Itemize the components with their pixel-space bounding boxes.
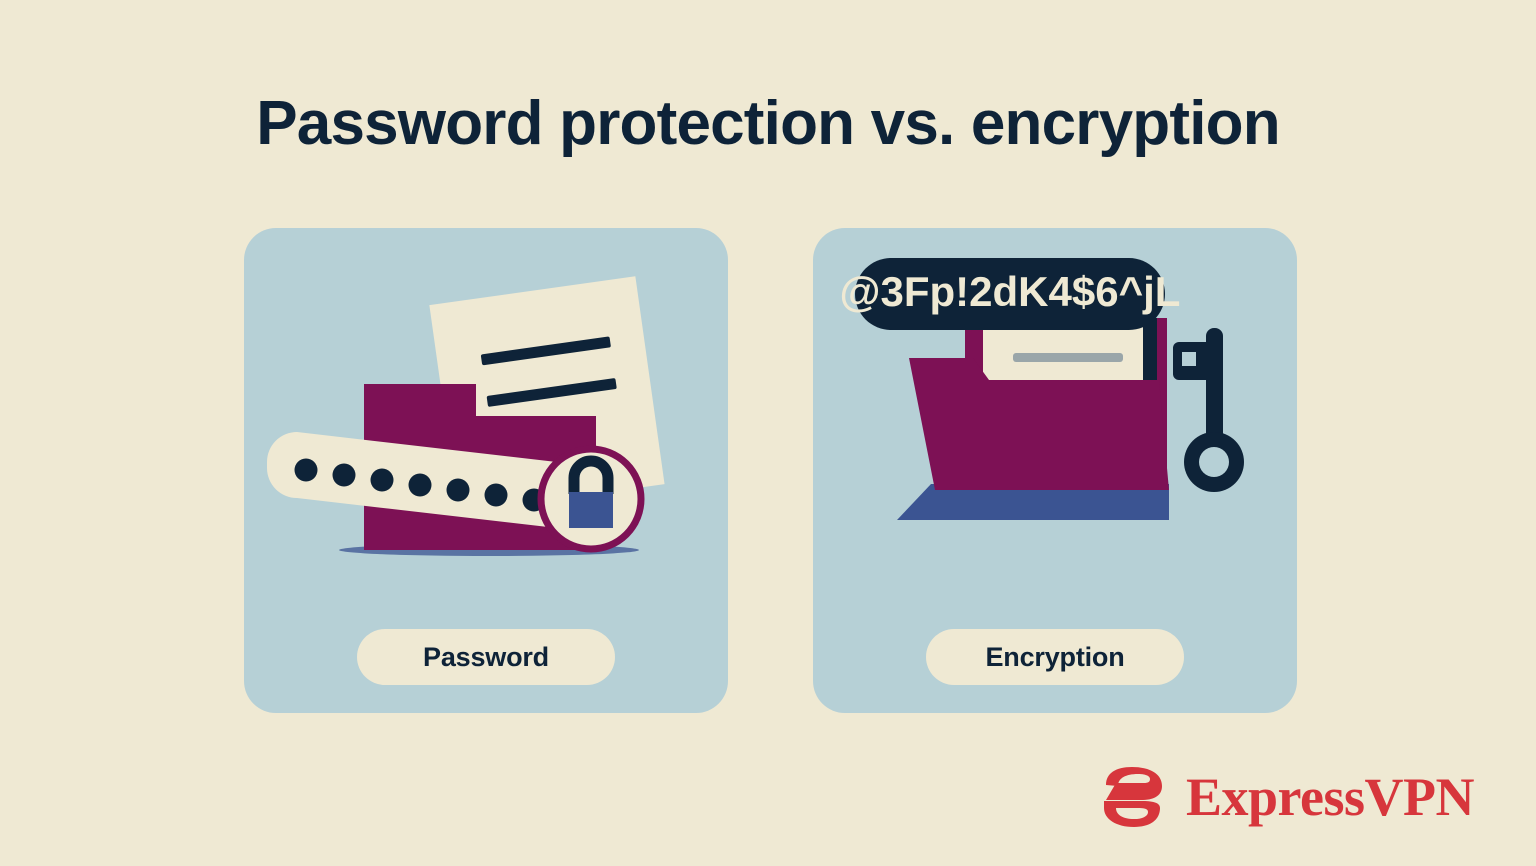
- encryption-illustration: @3Fp!2dK4$6^jL: [813, 228, 1297, 628]
- card-encryption: @3Fp!2dK4$6^jL Encryption: [813, 228, 1297, 713]
- infographic-canvas: Password protection vs. encryption: [0, 0, 1536, 866]
- card-label-encryption: Encryption: [926, 629, 1184, 685]
- expressvpn-logo: ExpressVPN: [1096, 758, 1436, 836]
- cipher-text: @3Fp!2dK4$6^jL: [840, 268, 1181, 315]
- lock-badge-icon: [541, 449, 641, 549]
- brand-wordmark: ExpressVPN: [1186, 770, 1474, 824]
- expressvpn-e-mark: [1096, 765, 1170, 829]
- page-title: Password protection vs. encryption: [0, 90, 1536, 158]
- key-icon: [1173, 328, 1244, 492]
- card-label-password: Password: [357, 629, 615, 685]
- cipher-bubble: @3Fp!2dK4$6^jL: [840, 258, 1181, 330]
- card-password: Password: [244, 228, 728, 713]
- password-illustration: [244, 228, 728, 628]
